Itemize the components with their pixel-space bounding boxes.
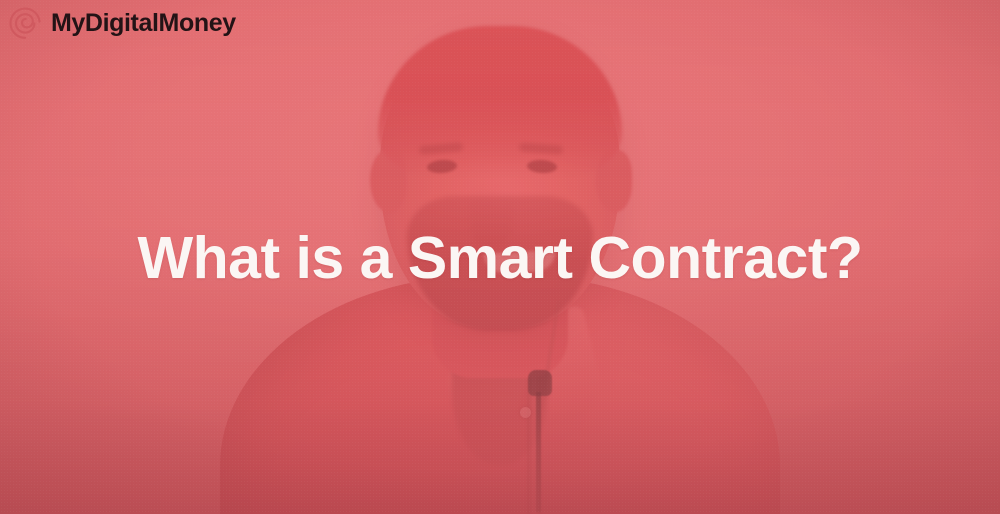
brand-logo-text: MyDigitalMoney	[51, 11, 236, 36]
video-thumbnail-frame[interactable]: MyDigitalMoney What is a Smart Contract?	[0, 0, 1000, 514]
brand-logo[interactable]: MyDigitalMoney	[6, 4, 236, 42]
spiral-logo-icon	[6, 4, 44, 42]
video-title: What is a Smart Contract?	[0, 228, 1000, 290]
